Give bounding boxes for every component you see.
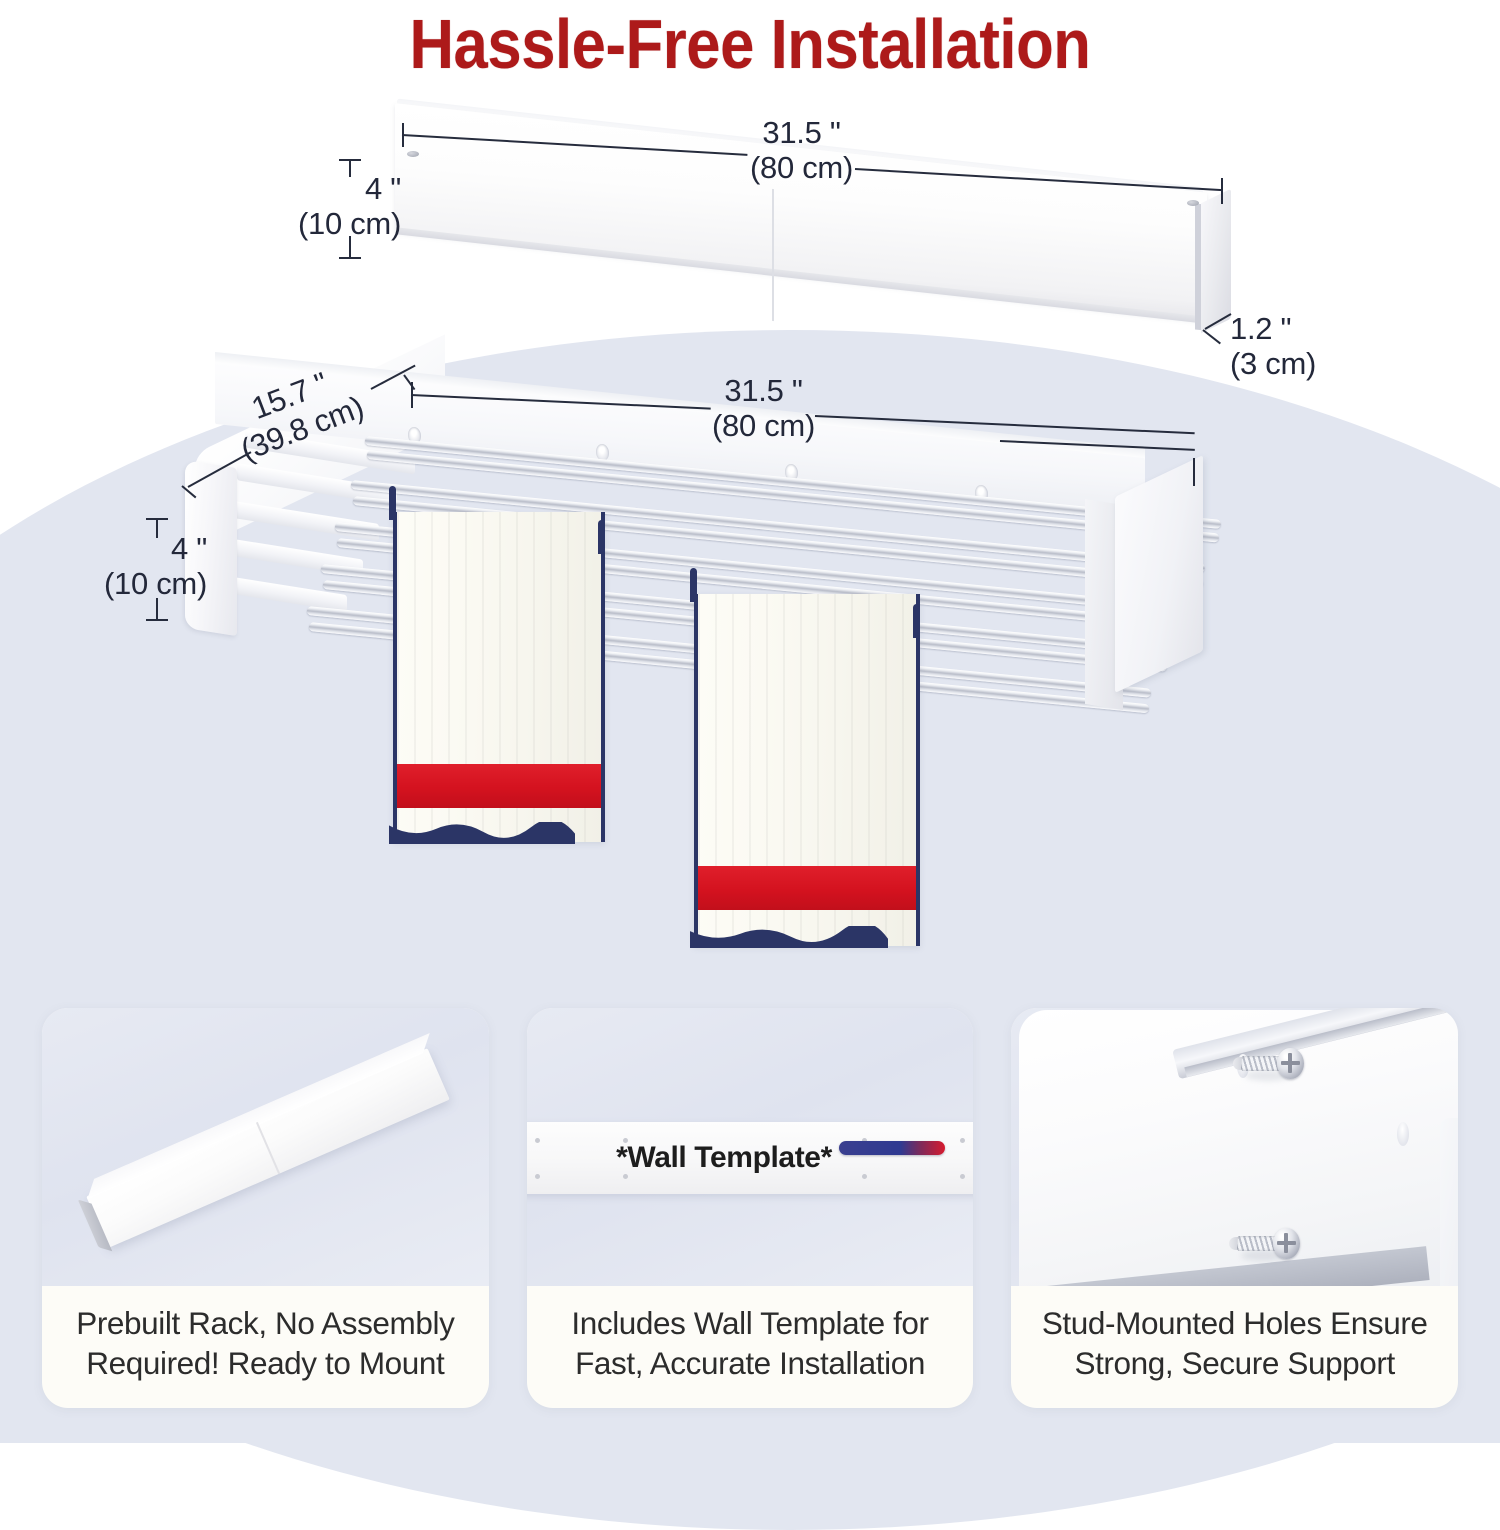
feature-card-wall-template-caption: Includes Wall Template for Fast, Accurat… [527,1286,974,1408]
closeup-bottom-shelf [1011,1246,1430,1286]
closeup-side-panel [1440,1118,1458,1286]
towel-2-wavy-hem [690,926,888,948]
bar-screw-left [407,151,419,157]
dim-top-height: 4 " (10 cm) [298,172,401,241]
towel-1-red-stripe [397,764,601,808]
folded-rack-body [86,1048,449,1248]
wall-template-label: *Wall Template* [616,1141,832,1175]
mounting-screw-bottom [1237,1228,1299,1258]
closeup-hole-2 [1397,1122,1409,1146]
towel-1-body [393,512,605,842]
towel-1-hook-left [389,486,396,520]
wall-template-strip: *Wall Template* [527,1122,974,1194]
wall-template-photo: *Wall Template* [527,1008,974,1286]
template-dot-8 [960,1174,965,1179]
template-dot-6 [862,1174,867,1179]
feature-card-stud-mounted[interactable]: Stud-Mounted Holes Ensure Strong, Secure… [1011,1008,1458,1408]
dim-top-depth: 1.2 " (3 cm) [1230,312,1316,381]
template-dot-7 [960,1138,965,1143]
towel-1 [393,512,605,842]
feature-card-stud-mounted-caption: Stud-Mounted Holes Ensure Strong, Secure… [1011,1286,1458,1408]
folded-rack-end-cap [78,1200,113,1252]
template-level-indicator [839,1141,945,1155]
bar-center-seam [772,189,774,321]
folded-rack-seam [256,1122,280,1174]
dim-top-length: 31.5 " (80 cm) [750,116,853,185]
bar-screw-right [1187,200,1199,206]
rail-slot-3 [227,500,379,541]
feature-card-prebuilt[interactable]: Prebuilt Rack, No Assembly Required! Rea… [42,1008,489,1408]
template-dot-1 [535,1138,540,1143]
rack-right-end-panel [1115,455,1203,693]
dim-tick-top-right [1221,178,1223,204]
towel-2 [694,594,920,946]
feature-card-wall-template[interactable]: *Wall Template* Includes Wall Template f… [527,1008,974,1408]
screw-top-head [1277,1048,1304,1079]
screw-top-slot-h [1281,1061,1300,1065]
folded-rack-top-face [87,1033,429,1199]
screw-bottom-slot-h [1277,1241,1296,1245]
towel-2-hook-left [690,568,697,602]
page-title: Hassle-Free Installation [90,4,1410,84]
feature-cards-row: Prebuilt Rack, No Assembly Required! Rea… [42,1008,1458,1408]
towel-2-hook-right [913,604,920,638]
stud-mounted-screws-photo [1011,1008,1458,1286]
feature-card-prebuilt-caption: Prebuilt Rack, No Assembly Required! Rea… [42,1286,489,1408]
dim-tick-rack-right [1193,458,1195,486]
towel-2-body [694,594,920,946]
dim-rack-width: 31.5 " (80 cm) [712,374,815,443]
bar-right-end-cap [1201,189,1231,334]
screw-bottom-head [1273,1228,1300,1259]
dim-tick-rack-height-bottom [146,619,168,621]
dim-tick-top-height-bottom [339,257,361,259]
rack-back-panel-closeup [1019,1010,1458,1286]
towel-2-red-stripe [698,866,916,910]
towel-1-hook-right [598,520,605,554]
towel-1-wavy-hem [389,822,575,844]
template-dot-2 [535,1174,540,1179]
mounting-screw-top [1241,1048,1303,1078]
folded-rack-photo [42,1008,489,1286]
dim-rack-height: 4 " (10 cm) [104,532,207,601]
